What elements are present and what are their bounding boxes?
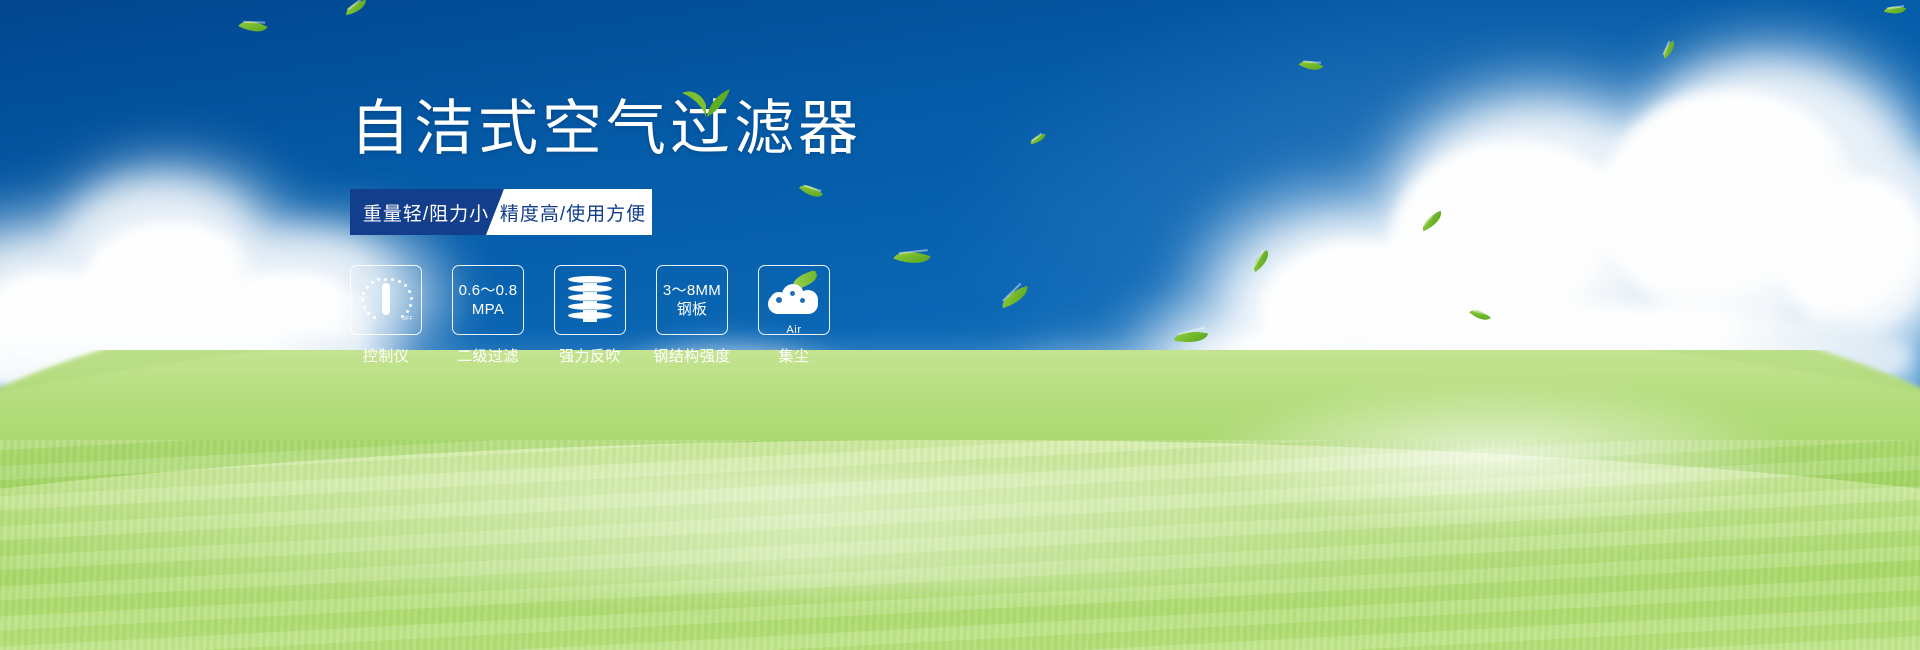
pressure-text-icon: 0.6～0.8 MPA — [459, 281, 518, 319]
feature-icon-box: Air — [758, 265, 830, 335]
dial-off-label: OFF — [402, 316, 413, 322]
feature-tabs: 重量轻/阻力小 精度高/使用方便 — [350, 189, 668, 235]
banner-content: 自洁式空气过滤器 重量轻/阻力小 精度高/使用方便 — [350, 95, 1110, 366]
title-row: 自洁式空气过滤器 — [350, 95, 1110, 167]
dial-on-label: NO — [359, 296, 367, 302]
feature-icon-box: 3～8MM 钢板 — [656, 265, 728, 335]
feature-item-blowback[interactable]: 强力反吹 — [554, 265, 626, 366]
feature-item-pressure[interactable]: 0.6～0.8 MPA 二级过滤 — [452, 265, 524, 366]
air-label: Air — [766, 324, 822, 336]
hero-banner: 自洁式空气过滤器 重量轻/阻力小 精度高/使用方便 — [0, 0, 1920, 650]
tab-weight-resistance[interactable]: 重量轻/阻力小 — [350, 189, 502, 235]
feature-icon-box: 0.6～0.8 MPA — [452, 265, 524, 335]
feature-label: 钢结构强度 — [642, 345, 742, 366]
steel-plate-text-icon: 3～8MM 钢板 — [663, 281, 721, 319]
grass-field — [0, 350, 1920, 650]
tab-precision-convenience[interactable]: 精度高/使用方便 — [486, 189, 652, 235]
feature-label: 控制仪 — [341, 345, 431, 366]
feature-label: 集尘 — [749, 345, 839, 366]
feature-label: 强力反吹 — [545, 345, 635, 366]
feature-item-steel[interactable]: 3～8MM 钢板 钢结构强度 — [656, 265, 728, 366]
feature-item-control[interactable]: NO OFF 控制仪 — [350, 265, 422, 366]
feature-label: 二级过滤 — [443, 345, 533, 366]
feature-item-dust[interactable]: Air 集尘 — [758, 265, 830, 366]
leaf-decoration-icon — [680, 83, 734, 119]
feature-icon-box — [554, 265, 626, 335]
control-dial-icon: NO OFF — [360, 276, 412, 324]
feature-list: NO OFF 控制仪 0.6～0.8 MPA 二级过滤 — [350, 265, 1110, 366]
filter-stack-icon — [568, 276, 612, 324]
feature-icon-box: NO OFF — [350, 265, 422, 335]
grass-highlight — [1185, 380, 1805, 530]
air-cloud-icon: Air — [766, 278, 822, 322]
